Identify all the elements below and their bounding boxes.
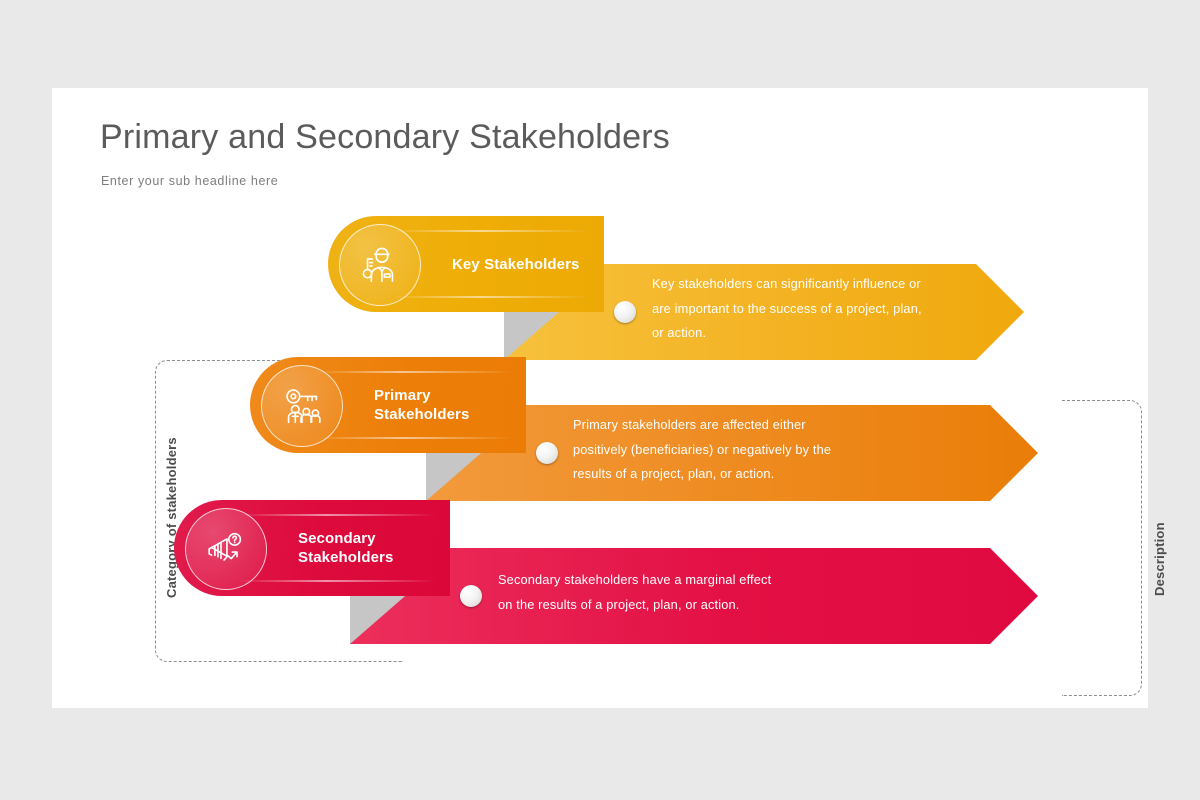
fold-shadow-key [504, 306, 566, 360]
description-line: Key stakeholders can significantly influ… [652, 272, 922, 297]
description-line: positively (beneficiaries) or negatively… [573, 438, 831, 463]
card-sheen [314, 371, 512, 373]
description-text-primary: Primary stakeholders are affected either… [573, 413, 831, 487]
description-text-secondary: Secondary stakeholders have a marginal e… [498, 568, 771, 617]
description-line: are important to the success of a projec… [652, 297, 922, 322]
bullet-knob-key [614, 301, 636, 323]
category-card-primary[interactable]: Primary Stakeholders [250, 357, 526, 453]
card-sheen [392, 296, 590, 298]
description-text-key: Key stakeholders can significantly influ… [652, 272, 922, 346]
description-line: Primary stakeholders are affected either [573, 413, 831, 438]
card-sheen [314, 437, 512, 439]
fold-shadow-secondary [350, 590, 412, 644]
person-id-badge-key-icon [339, 224, 421, 306]
description-line: Secondary stakeholders have a marginal e… [498, 568, 771, 593]
page-title: Primary and Secondary Stakeholders [100, 118, 670, 157]
category-label-secondary: Secondary Stakeholders [298, 529, 393, 567]
page-subtitle: Enter your sub headline here [101, 174, 278, 188]
megaphone-growth-arrow-icon [185, 508, 267, 590]
description-line: results of a project, plan, or action. [573, 462, 831, 487]
category-card-secondary[interactable]: Secondary Stakeholders [174, 500, 450, 596]
card-sheen [238, 580, 436, 582]
bullet-knob-secondary [460, 585, 482, 607]
axis-label-description: Description [1152, 522, 1167, 596]
card-sheen [238, 514, 436, 516]
key-people-group-icon [261, 365, 343, 447]
axis-label-category: Category of stakeholders [164, 437, 179, 598]
fold-shadow-primary [426, 447, 488, 501]
category-label-primary: Primary Stakeholders [374, 386, 469, 424]
category-card-key[interactable]: Key Stakeholders [328, 216, 604, 312]
bullet-knob-primary [536, 442, 558, 464]
category-label-key: Key Stakeholders [452, 255, 580, 274]
card-sheen [392, 230, 590, 232]
description-line: on the results of a project, plan, or ac… [498, 593, 771, 618]
description-line: or action. [652, 321, 922, 346]
slide-canvas: Primary and Secondary Stakeholders Enter… [52, 88, 1148, 708]
description-bracket [1062, 400, 1142, 696]
